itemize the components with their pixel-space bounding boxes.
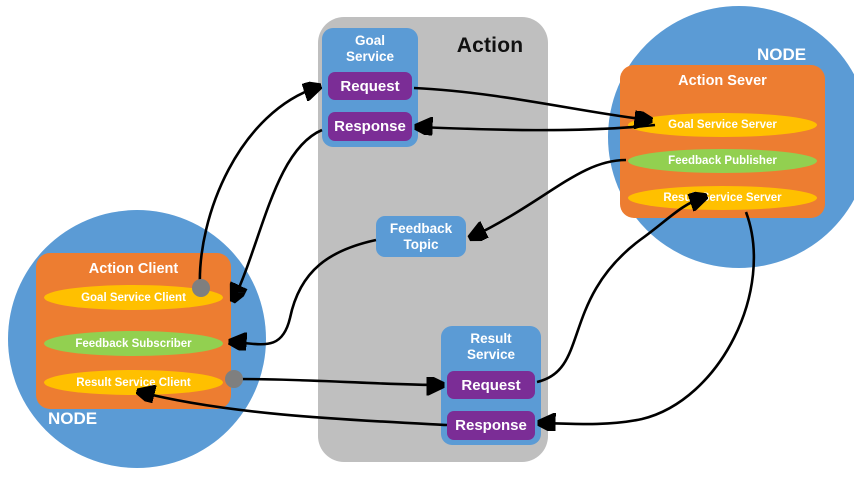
result-service-title-line2: Service — [467, 347, 515, 362]
server-node-label: NODE — [757, 45, 806, 65]
goal-service-response[interactable]: Response — [328, 112, 412, 141]
result-service-response[interactable]: Response — [447, 411, 535, 440]
action-server-title: Action Sever — [620, 73, 825, 89]
feedback-topic-line1: Feedback — [390, 221, 452, 236]
result-service-title: Result Service — [441, 331, 541, 363]
feedback-topic-label: Feedback Topic — [390, 221, 452, 253]
goal-service-request[interactable]: Request — [328, 72, 412, 100]
feedback-topic-box[interactable]: Feedback Topic — [376, 216, 466, 257]
result-service-request[interactable]: Request — [447, 371, 535, 399]
action-title: Action — [430, 34, 550, 58]
goal-service-title: Goal Service — [322, 33, 418, 65]
goal-service-title-line1: Goal — [355, 33, 385, 48]
pill-feedback-publisher[interactable]: Feedback Publisher — [628, 149, 817, 173]
goal-service-title-line2: Service — [346, 49, 394, 64]
client-node-label: NODE — [48, 409, 97, 429]
pill-result-service-server[interactable]: Result Service Server — [628, 186, 817, 210]
pill-goal-service-client[interactable]: Goal Service Client — [44, 285, 223, 310]
result-service-title-line1: Result — [470, 331, 511, 346]
action-client-title: Action Client — [36, 261, 231, 277]
pill-result-service-client[interactable]: Result Service Client — [44, 370, 223, 395]
feedback-topic-line2: Topic — [404, 237, 439, 252]
pill-feedback-subscriber[interactable]: Feedback Subscriber — [44, 331, 223, 356]
diagram-canvas: Action Action Client Action Sever Goal S… — [0, 0, 854, 480]
pill-goal-service-server[interactable]: Goal Service Server — [628, 113, 817, 137]
